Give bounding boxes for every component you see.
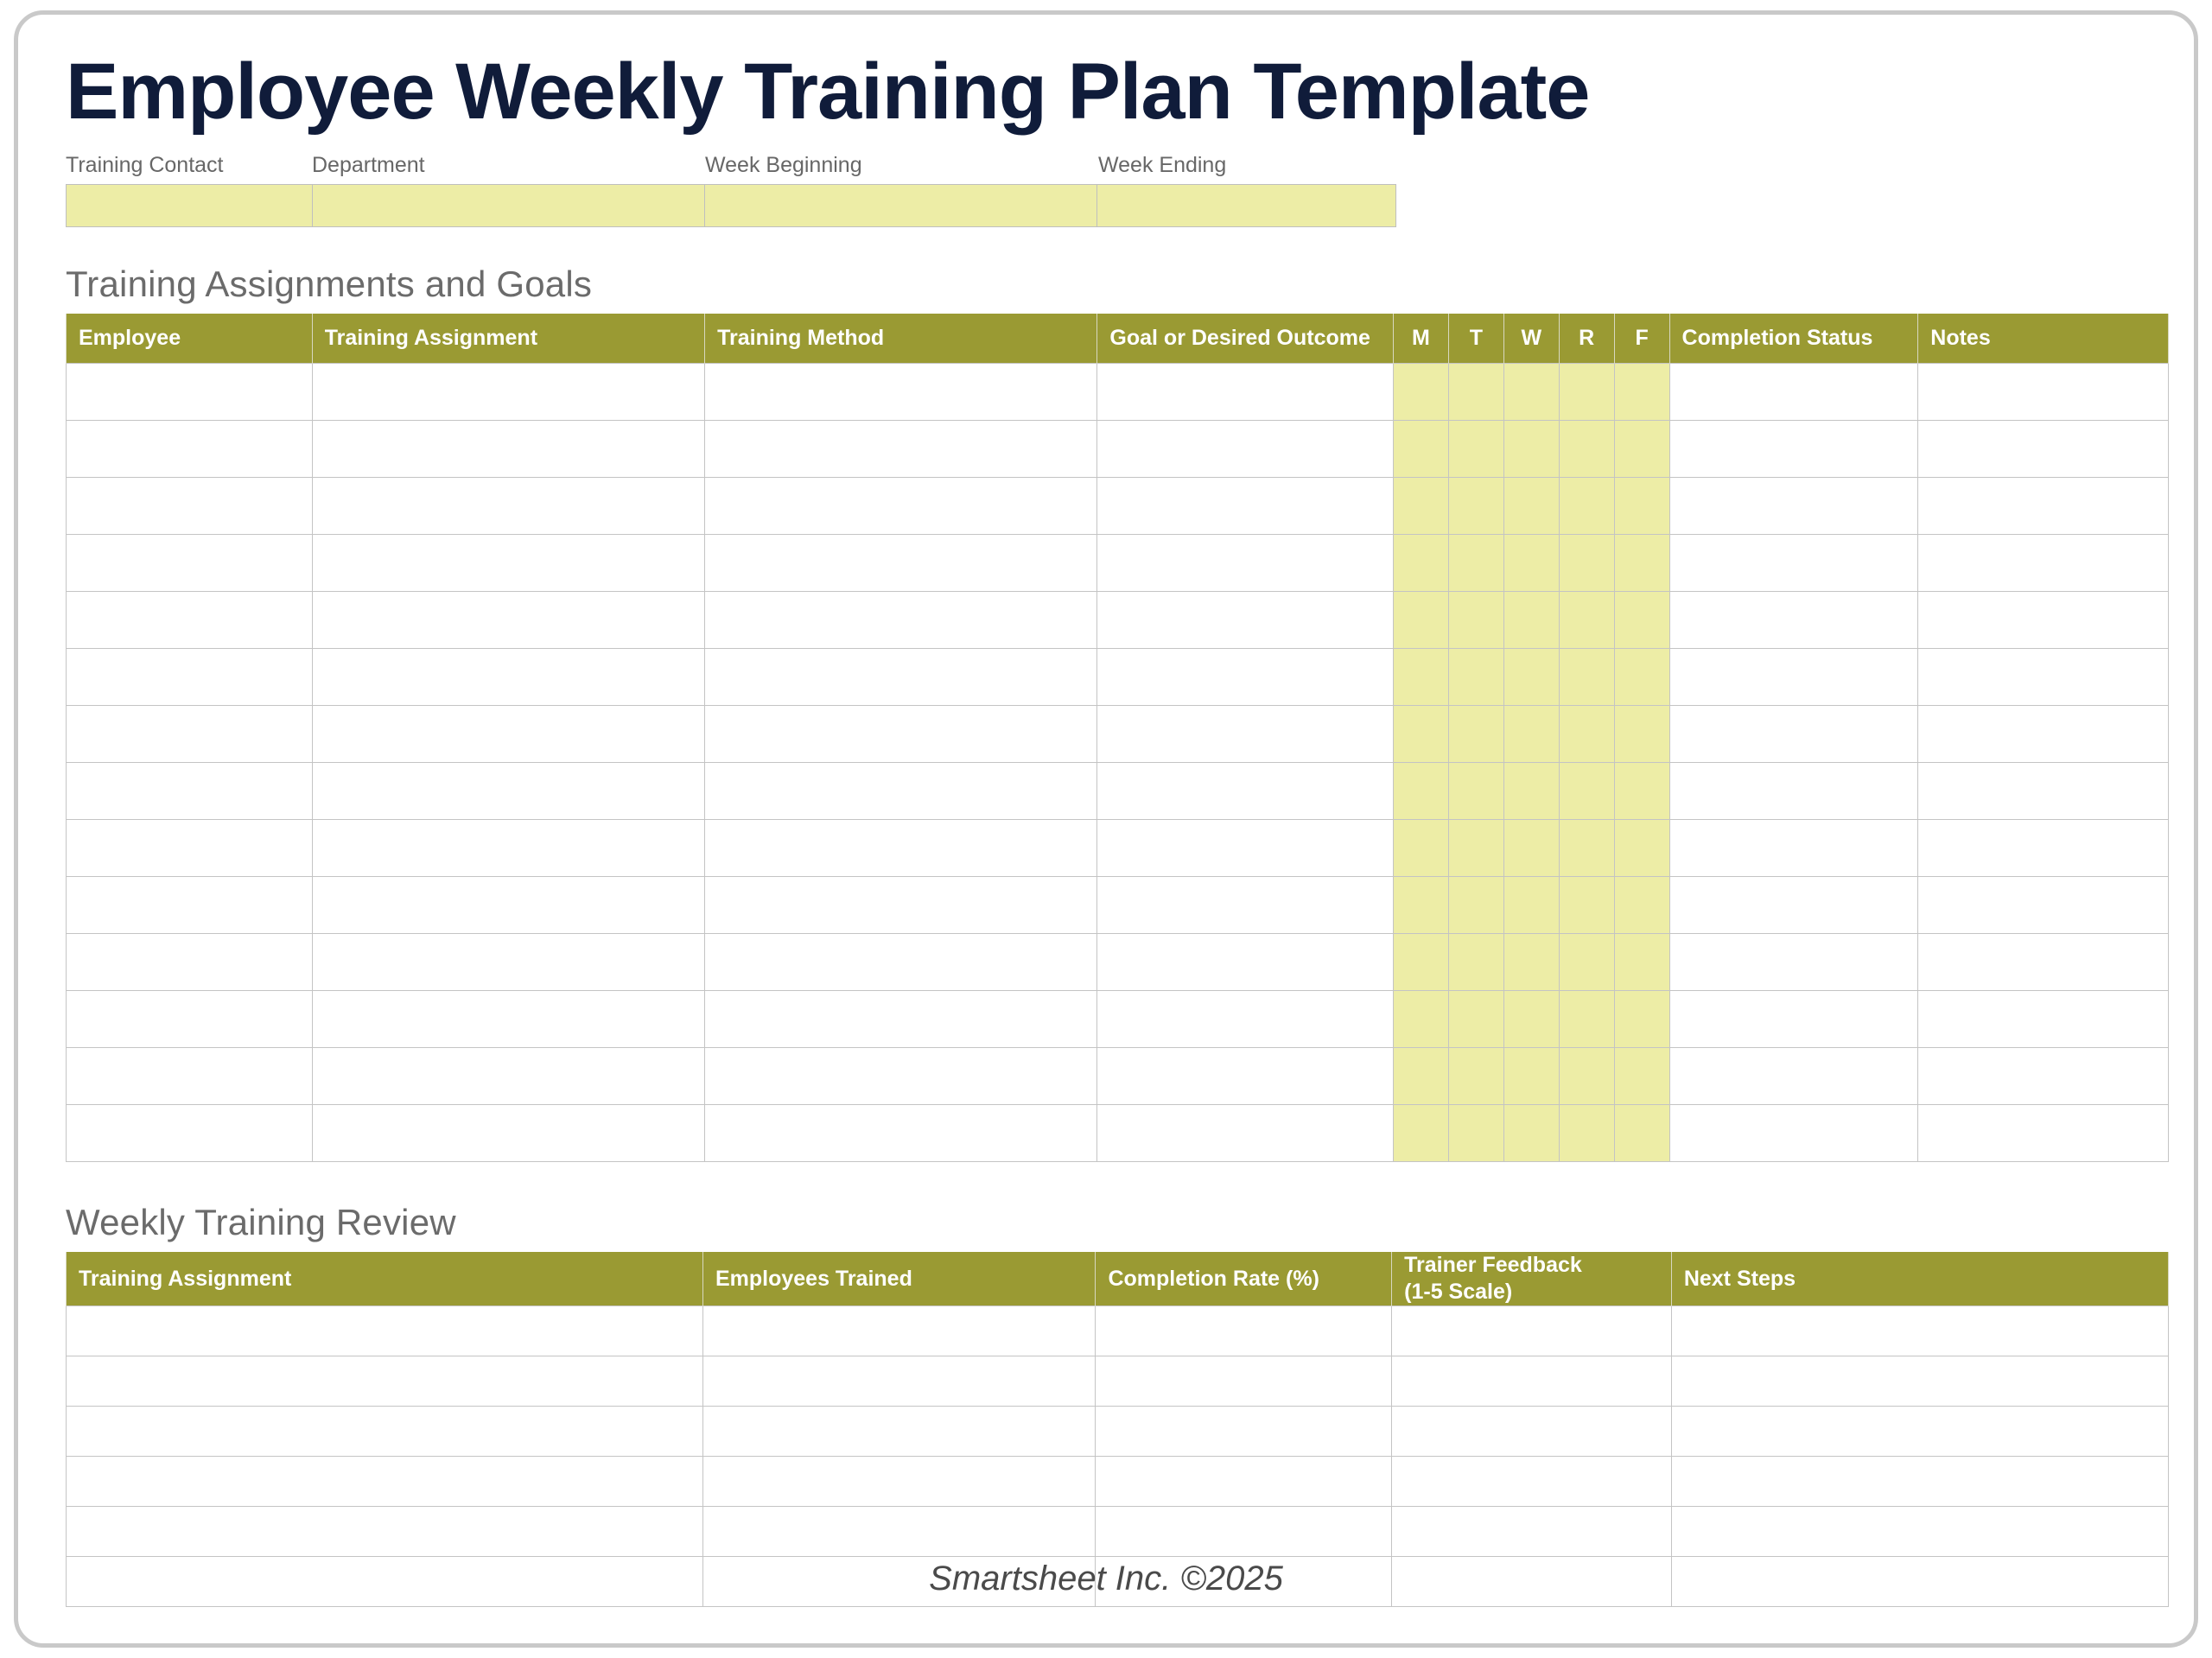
- table-cell[interactable]: [1097, 421, 1394, 478]
- table-cell[interactable]: [1448, 763, 1503, 820]
- assignments-body: [67, 364, 2169, 1162]
- table-cell[interactable]: [1918, 991, 2169, 1048]
- review-col-header-next-steps: Next Steps: [1671, 1252, 2168, 1305]
- table-cell[interactable]: [1669, 1048, 1918, 1105]
- table-cell[interactable]: [1559, 820, 1614, 877]
- table-cell[interactable]: [1393, 934, 1448, 991]
- table-cell[interactable]: [67, 934, 313, 991]
- table-cell[interactable]: [1669, 535, 1918, 592]
- table-cell[interactable]: [705, 592, 1097, 649]
- table-cell[interactable]: [1096, 1506, 1392, 1556]
- table-cell[interactable]: [702, 1305, 1095, 1356]
- table-cell[interactable]: [1097, 877, 1394, 934]
- table-cell[interactable]: [1614, 1105, 1669, 1162]
- trainer-feedback-line2: (1-5 Scale): [1404, 1280, 1512, 1304]
- col-header-employee: Employee: [67, 314, 313, 364]
- table-cell[interactable]: [1448, 1105, 1503, 1162]
- section-title-weekly-review: Weekly Training Review: [66, 1202, 2169, 1243]
- table-cell[interactable]: [1097, 1048, 1394, 1105]
- table-cell[interactable]: [1503, 535, 1559, 592]
- table-cell[interactable]: [705, 820, 1097, 877]
- meta-label-week-beginning: Week Beginning: [705, 153, 1098, 178]
- meta-field-department[interactable]: [313, 185, 705, 226]
- table-cell[interactable]: [312, 1105, 704, 1162]
- table-cell[interactable]: [1503, 478, 1559, 535]
- table-cell[interactable]: [1448, 1048, 1503, 1105]
- table-cell[interactable]: [312, 478, 704, 535]
- table-cell[interactable]: [1669, 934, 1918, 991]
- table-cell[interactable]: [312, 592, 704, 649]
- table-cell[interactable]: [1669, 364, 1918, 421]
- review-col-header-employees-trained: Employees Trained: [702, 1252, 1095, 1305]
- table-cell[interactable]: [1669, 592, 1918, 649]
- meta-field-week-ending[interactable]: [1097, 185, 1395, 226]
- table-cell[interactable]: [1669, 1105, 1918, 1162]
- table-cell[interactable]: [1393, 535, 1448, 592]
- table-cell[interactable]: [312, 649, 704, 706]
- table-cell[interactable]: [1393, 763, 1448, 820]
- table-cell[interactable]: [1614, 649, 1669, 706]
- table-cell[interactable]: [67, 1105, 313, 1162]
- table-row: [67, 364, 2169, 421]
- table-cell[interactable]: [705, 1048, 1097, 1105]
- table-row: [67, 1048, 2169, 1105]
- table-cell[interactable]: [1669, 763, 1918, 820]
- table-cell[interactable]: [67, 592, 313, 649]
- table-cell[interactable]: [67, 763, 313, 820]
- col-header-tuesday: T: [1448, 314, 1503, 364]
- table-cell[interactable]: [702, 1456, 1095, 1506]
- table-cell[interactable]: [1559, 1105, 1614, 1162]
- table-cell[interactable]: [705, 478, 1097, 535]
- table-cell[interactable]: [1614, 592, 1669, 649]
- table-cell[interactable]: [312, 364, 704, 421]
- meta-labels-row: Training Contact Department Week Beginni…: [66, 153, 1396, 184]
- table-cell[interactable]: [705, 934, 1097, 991]
- col-header-thursday: R: [1559, 314, 1614, 364]
- table-cell[interactable]: [702, 1356, 1095, 1406]
- table-cell[interactable]: [1669, 478, 1918, 535]
- table-cell[interactable]: [1393, 649, 1448, 706]
- table-cell[interactable]: [1559, 1048, 1614, 1105]
- table-cell[interactable]: [1097, 763, 1394, 820]
- table-cell[interactable]: [1918, 478, 2169, 535]
- table-cell[interactable]: [705, 1105, 1097, 1162]
- col-header-notes: Notes: [1918, 314, 2169, 364]
- table-cell[interactable]: [1448, 535, 1503, 592]
- table-cell[interactable]: [705, 421, 1097, 478]
- assignments-header-row: Employee Training Assignment Training Me…: [67, 314, 2169, 364]
- table-cell[interactable]: [705, 763, 1097, 820]
- table-cell[interactable]: [312, 706, 704, 763]
- table-cell[interactable]: [1097, 592, 1394, 649]
- table-cell[interactable]: [1918, 877, 2169, 934]
- table-cell[interactable]: [1614, 1048, 1669, 1105]
- table-cell[interactable]: [705, 877, 1097, 934]
- table-row: [67, 820, 2169, 877]
- table-cell[interactable]: [1614, 364, 1669, 421]
- table-row: [67, 592, 2169, 649]
- table-cell[interactable]: [1448, 478, 1503, 535]
- table-cell[interactable]: [1392, 1406, 1672, 1456]
- table-cell[interactable]: [1392, 1305, 1672, 1356]
- review-col-header-training-assignment: Training Assignment: [67, 1252, 703, 1305]
- table-cell[interactable]: [1614, 535, 1669, 592]
- table-row: [67, 1305, 2169, 1356]
- table-row: [67, 421, 2169, 478]
- table-cell[interactable]: [1669, 991, 1918, 1048]
- table-cell[interactable]: [705, 535, 1097, 592]
- table-cell[interactable]: [1614, 706, 1669, 763]
- table-cell[interactable]: [1097, 1105, 1394, 1162]
- training-assignments-table: Employee Training Assignment Training Me…: [66, 314, 2169, 1163]
- table-cell[interactable]: [67, 991, 313, 1048]
- trainer-feedback-line1: Trainer Feedback: [1404, 1253, 1582, 1277]
- table-cell[interactable]: [312, 934, 704, 991]
- table-cell[interactable]: [1393, 1048, 1448, 1105]
- table-cell[interactable]: [1614, 820, 1669, 877]
- table-cell[interactable]: [705, 706, 1097, 763]
- table-row: [67, 535, 2169, 592]
- table-cell[interactable]: [705, 991, 1097, 1048]
- table-cell[interactable]: [312, 421, 704, 478]
- table-cell[interactable]: [1669, 649, 1918, 706]
- table-cell[interactable]: [1448, 877, 1503, 934]
- table-cell[interactable]: [1448, 934, 1503, 991]
- table-cell[interactable]: [1097, 478, 1394, 535]
- table-cell[interactable]: [1448, 364, 1503, 421]
- table-row: [67, 706, 2169, 763]
- table-cell[interactable]: [1448, 820, 1503, 877]
- table-cell[interactable]: [67, 706, 313, 763]
- col-header-friday: F: [1614, 314, 1669, 364]
- table-cell[interactable]: [1559, 991, 1614, 1048]
- table-cell[interactable]: [1503, 763, 1559, 820]
- table-row: [67, 763, 2169, 820]
- table-cell[interactable]: [702, 1506, 1095, 1556]
- section-title-training-assignments: Training Assignments and Goals: [66, 264, 2169, 305]
- table-cell[interactable]: [1448, 592, 1503, 649]
- table-cell[interactable]: [1503, 364, 1559, 421]
- table-cell[interactable]: [1503, 1048, 1559, 1105]
- meta-label-training-contact: Training Contact: [66, 153, 312, 178]
- table-cell[interactable]: [1559, 934, 1614, 991]
- table-row: [67, 991, 2169, 1048]
- table-cell[interactable]: [1671, 1506, 2168, 1556]
- table-cell[interactable]: [1096, 1356, 1392, 1406]
- table-cell[interactable]: [1671, 1456, 2168, 1506]
- table-cell[interactable]: [67, 478, 313, 535]
- table-cell[interactable]: [1448, 706, 1503, 763]
- meta-strip: Training Contact Department Week Beginni…: [66, 153, 1396, 227]
- table-cell[interactable]: [1559, 706, 1614, 763]
- table-cell[interactable]: [705, 364, 1097, 421]
- table-row: [67, 1506, 2169, 1556]
- table-cell[interactable]: [1669, 877, 1918, 934]
- table-cell[interactable]: [67, 1356, 703, 1406]
- table-cell[interactable]: [1614, 763, 1669, 820]
- table-cell[interactable]: [1503, 991, 1559, 1048]
- table-cell[interactable]: [1918, 592, 2169, 649]
- table-cell[interactable]: [1097, 364, 1394, 421]
- table-cell[interactable]: [1393, 877, 1448, 934]
- table-cell[interactable]: [1097, 820, 1394, 877]
- table-cell[interactable]: [1393, 592, 1448, 649]
- table-cell[interactable]: [1669, 706, 1918, 763]
- table-row: [67, 934, 2169, 991]
- table-cell[interactable]: [1614, 991, 1669, 1048]
- table-cell[interactable]: [1503, 820, 1559, 877]
- col-header-training-assignment: Training Assignment: [312, 314, 704, 364]
- table-cell[interactable]: [705, 649, 1097, 706]
- table-cell[interactable]: [1559, 421, 1614, 478]
- table-cell[interactable]: [67, 1456, 703, 1506]
- col-header-completion-status: Completion Status: [1669, 314, 1918, 364]
- table-cell[interactable]: [1392, 1356, 1672, 1406]
- table-cell[interactable]: [1448, 649, 1503, 706]
- table-cell[interactable]: [1393, 478, 1448, 535]
- table-cell[interactable]: [1614, 478, 1669, 535]
- table-cell[interactable]: [1393, 364, 1448, 421]
- table-cell[interactable]: [1096, 1456, 1392, 1506]
- review-col-header-completion-rate: Completion Rate (%): [1096, 1252, 1392, 1305]
- table-cell[interactable]: [1448, 991, 1503, 1048]
- table-cell[interactable]: [312, 991, 704, 1048]
- table-cell[interactable]: [1918, 820, 2169, 877]
- table-cell[interactable]: [1393, 820, 1448, 877]
- meta-label-department: Department: [312, 153, 705, 178]
- table-row: [67, 1456, 2169, 1506]
- table-cell[interactable]: [1503, 706, 1559, 763]
- table-cell[interactable]: [1918, 1048, 2169, 1105]
- table-row: [67, 1356, 2169, 1406]
- table-cell[interactable]: [1671, 1406, 2168, 1456]
- footer-copyright: Smartsheet Inc. ©2025: [0, 1560, 2212, 1598]
- table-row: [67, 478, 2169, 535]
- table-cell[interactable]: [1918, 934, 2169, 991]
- sheet-content: Employee Weekly Training Plan Template T…: [0, 0, 2212, 1658]
- table-cell[interactable]: [1393, 1105, 1448, 1162]
- table-cell[interactable]: [67, 364, 313, 421]
- table-cell[interactable]: [67, 421, 313, 478]
- table-cell[interactable]: [1669, 421, 1918, 478]
- table-cell[interactable]: [1392, 1456, 1672, 1506]
- table-cell[interactable]: [67, 649, 313, 706]
- table-cell[interactable]: [312, 877, 704, 934]
- table-cell[interactable]: [1393, 991, 1448, 1048]
- table-cell[interactable]: [1559, 592, 1614, 649]
- table-cell[interactable]: [1097, 649, 1394, 706]
- table-cell[interactable]: [67, 1048, 313, 1105]
- page-title: Employee Weekly Training Plan Template: [66, 50, 2169, 134]
- col-header-wednesday: W: [1503, 314, 1559, 364]
- table-cell[interactable]: [1393, 421, 1448, 478]
- meta-fields-row: [66, 184, 1396, 227]
- table-cell[interactable]: [312, 535, 704, 592]
- review-header-row: Training Assignment Employees Trained Co…: [67, 1252, 2169, 1305]
- table-cell[interactable]: [67, 1506, 703, 1556]
- table-cell[interactable]: [67, 1305, 703, 1356]
- table-cell[interactable]: [1096, 1406, 1392, 1456]
- table-cell[interactable]: [1097, 706, 1394, 763]
- weekly-training-review-table: Training Assignment Employees Trained Co…: [66, 1252, 2169, 1607]
- table-cell[interactable]: [1559, 364, 1614, 421]
- table-cell[interactable]: [1918, 1105, 2169, 1162]
- table-cell[interactable]: [67, 535, 313, 592]
- table-cell[interactable]: [67, 877, 313, 934]
- table-cell[interactable]: [1503, 877, 1559, 934]
- col-header-goal-outcome: Goal or Desired Outcome: [1097, 314, 1394, 364]
- table-cell[interactable]: [1503, 421, 1559, 478]
- meta-field-training-contact[interactable]: [67, 185, 313, 226]
- table-cell[interactable]: [1614, 421, 1669, 478]
- table-cell[interactable]: [1097, 535, 1394, 592]
- table-cell[interactable]: [1918, 649, 2169, 706]
- meta-label-week-ending: Week Ending: [1098, 153, 1396, 178]
- table-cell[interactable]: [1097, 991, 1394, 1048]
- table-cell[interactable]: [1392, 1506, 1672, 1556]
- table-cell[interactable]: [1918, 421, 2169, 478]
- table-cell[interactable]: [1671, 1305, 2168, 1356]
- col-header-monday: M: [1393, 314, 1448, 364]
- table-cell[interactable]: [1559, 478, 1614, 535]
- table-cell[interactable]: [1614, 877, 1669, 934]
- table-cell[interactable]: [1097, 934, 1394, 991]
- table-cell[interactable]: [1448, 421, 1503, 478]
- table-cell[interactable]: [1503, 1105, 1559, 1162]
- review-col-header-trainer-feedback: Trainer Feedback (1-5 Scale): [1392, 1252, 1672, 1305]
- table-cell[interactable]: [312, 820, 704, 877]
- table-cell[interactable]: [1393, 706, 1448, 763]
- table-cell[interactable]: [1096, 1305, 1392, 1356]
- table-cell[interactable]: [1669, 820, 1918, 877]
- table-cell[interactable]: [702, 1406, 1095, 1456]
- table-cell[interactable]: [1559, 877, 1614, 934]
- table-cell[interactable]: [1559, 535, 1614, 592]
- table-row: [67, 877, 2169, 934]
- meta-field-week-beginning[interactable]: [705, 185, 1097, 226]
- table-cell[interactable]: [67, 1406, 703, 1456]
- table-cell[interactable]: [1559, 649, 1614, 706]
- table-cell[interactable]: [1671, 1356, 2168, 1406]
- table-cell[interactable]: [1503, 592, 1559, 649]
- table-cell[interactable]: [1503, 934, 1559, 991]
- col-header-training-method: Training Method: [705, 314, 1097, 364]
- table-cell[interactable]: [1559, 763, 1614, 820]
- table-cell[interactable]: [1918, 535, 2169, 592]
- table-cell[interactable]: [1503, 649, 1559, 706]
- table-cell[interactable]: [1918, 364, 2169, 421]
- table-cell[interactable]: [312, 763, 704, 820]
- table-cell[interactable]: [1918, 763, 2169, 820]
- table-row: [67, 649, 2169, 706]
- table-cell[interactable]: [67, 820, 313, 877]
- table-row: [67, 1105, 2169, 1162]
- table-cell[interactable]: [1614, 934, 1669, 991]
- page-root: Employee Weekly Training Plan Template T…: [0, 0, 2212, 1658]
- table-row: [67, 1406, 2169, 1456]
- table-cell[interactable]: [312, 1048, 704, 1105]
- table-cell[interactable]: [1918, 706, 2169, 763]
